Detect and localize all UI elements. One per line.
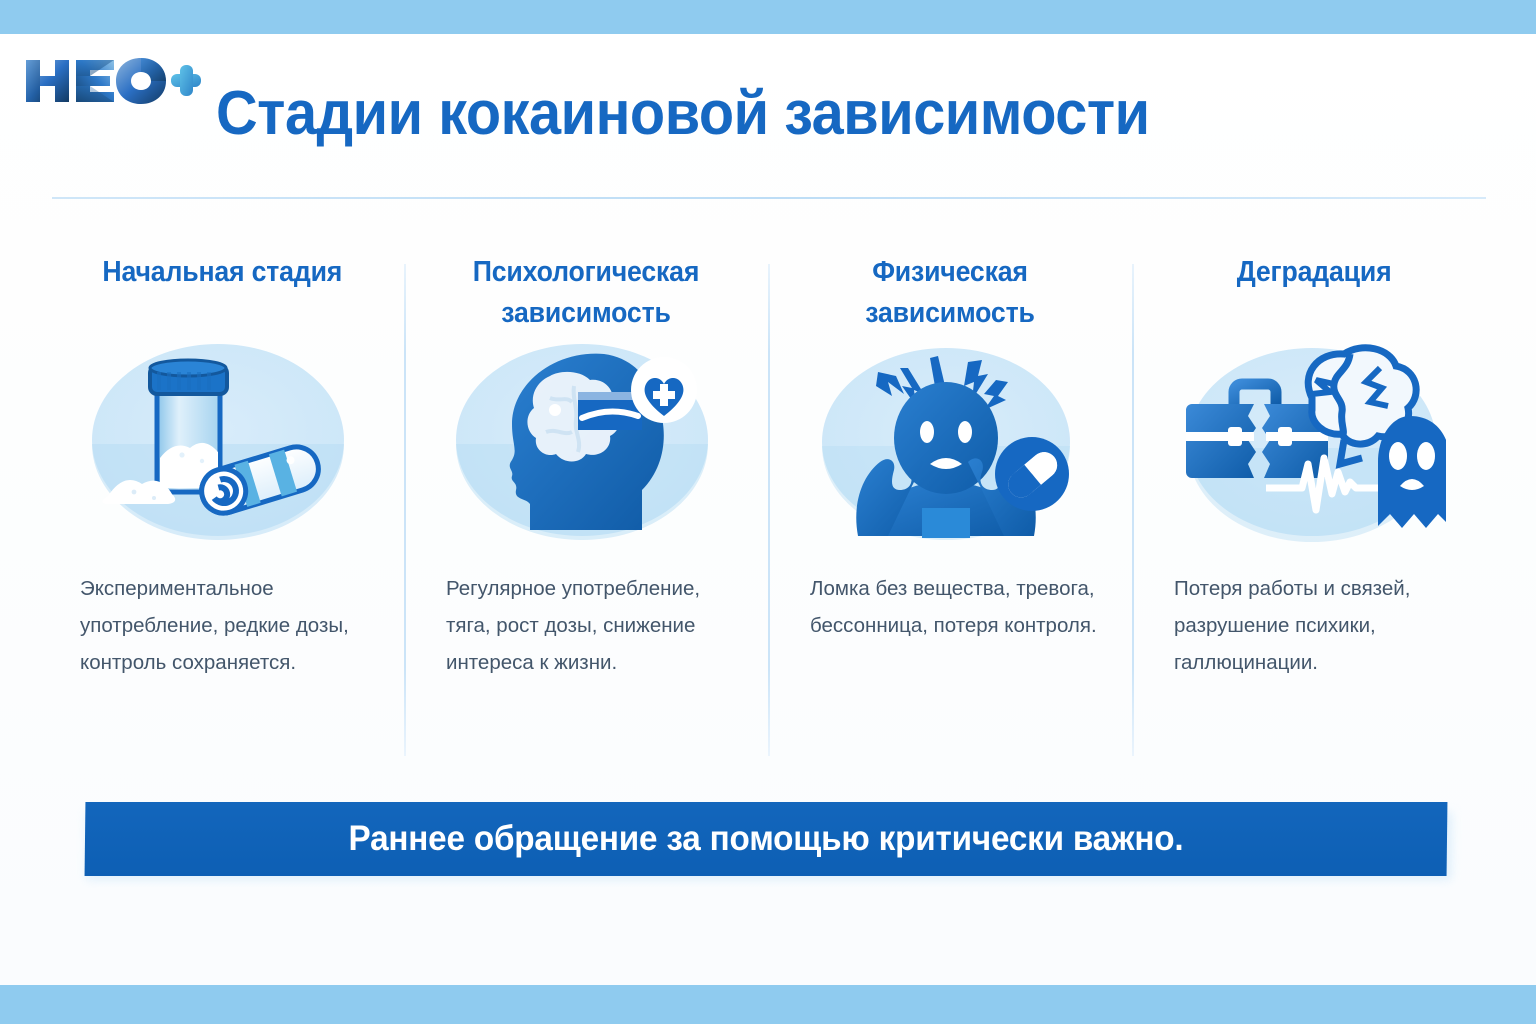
- stage-description: Потеря работы и связей, разрушение психи…: [1154, 570, 1474, 681]
- head-brain-with-heart-plus-badge-icon: [454, 340, 718, 544]
- stage-description: Экспериментальное употребление, редкие д…: [62, 570, 382, 681]
- stage-column-initial: Начальная стадия: [40, 252, 404, 764]
- stages-columns: Начальная стадия: [40, 252, 1496, 764]
- neo-plus-logo: [22, 52, 202, 108]
- stage-column-degradation: Деградация: [1132, 252, 1496, 764]
- stage-title: Физическая зависимость: [803, 252, 1097, 334]
- stage-description: Ломка без вещества, тревога, бессонница,…: [790, 570, 1110, 644]
- title-divider: [52, 197, 1486, 199]
- broken-briefcase-cracked-brain-ghost-icon: [1182, 340, 1446, 544]
- stage-title: Начальная стадия: [102, 252, 342, 334]
- infographic-poster: Стадии кокаиновой зависимости Начальная …: [0, 0, 1536, 1024]
- stage-title: Психологическая зависимость: [439, 252, 733, 334]
- stage-title: Деградация: [1237, 252, 1392, 334]
- top-accent-band: [0, 0, 1536, 34]
- call-to-action-text: Раннее обращение за помощью критически в…: [119, 802, 1413, 876]
- powder-jar-and-rolled-banknote-icon: [90, 340, 354, 544]
- bottom-accent-band: [0, 985, 1536, 1024]
- stage-description: Регулярное употребление, тяга, рост дозы…: [426, 570, 746, 681]
- distressed-person-with-pill-badge-icon: [818, 340, 1082, 544]
- stage-column-psychological: Психологическая зависимость: [404, 252, 768, 764]
- page-title: Стадии кокаиновой зависимости: [216, 80, 1416, 148]
- stage-column-physical: Физическая зависимость: [768, 252, 1132, 764]
